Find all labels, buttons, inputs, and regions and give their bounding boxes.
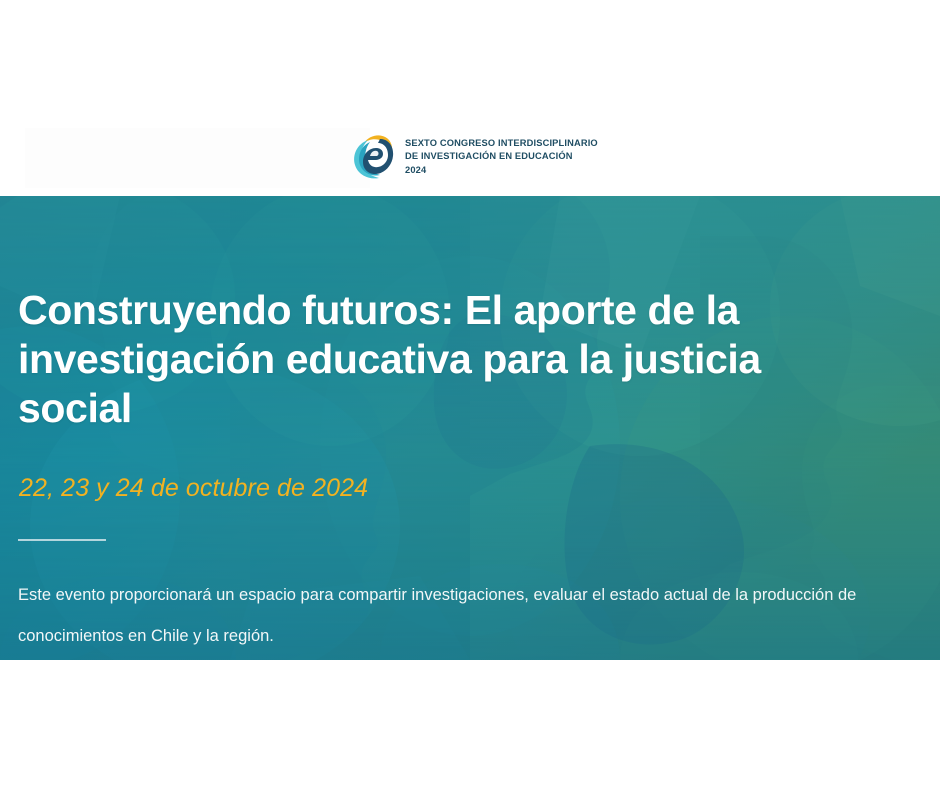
hero-date: 22, 23 y 24 de octubre de 2024: [19, 473, 368, 503]
logo-year: 2024: [405, 164, 598, 177]
site-header: SEXTO CONGRESO INTERDISCIPLINARIO DE INV…: [0, 0, 940, 196]
hero-title: Construyendo futuros: El aporte de la in…: [18, 286, 808, 433]
landing-page: SEXTO CONGRESO INTERDISCIPLINARIO DE INV…: [0, 0, 940, 788]
logo-line-1: SEXTO CONGRESO INTERDISCIPLINARIO: [405, 137, 598, 150]
hero-divider: [18, 539, 106, 541]
hero-banner: Construyendo futuros: El aporte de la in…: [0, 196, 940, 660]
congress-e-logo-icon: [350, 131, 396, 181]
header-backdrop-panel: [25, 128, 370, 188]
logo-line-2: DE INVESTIGACIÓN EN EDUCACIÓN: [405, 150, 598, 163]
page-footer-space: [0, 660, 940, 788]
congress-logo-text: SEXTO CONGRESO INTERDISCIPLINARIO DE INV…: [405, 136, 598, 177]
hero-description: Este evento proporcionará un espacio par…: [18, 575, 918, 657]
hero-content: Construyendo futuros: El aporte de la in…: [18, 196, 918, 660]
congress-logo[interactable]: SEXTO CONGRESO INTERDISCIPLINARIO DE INV…: [350, 131, 598, 181]
